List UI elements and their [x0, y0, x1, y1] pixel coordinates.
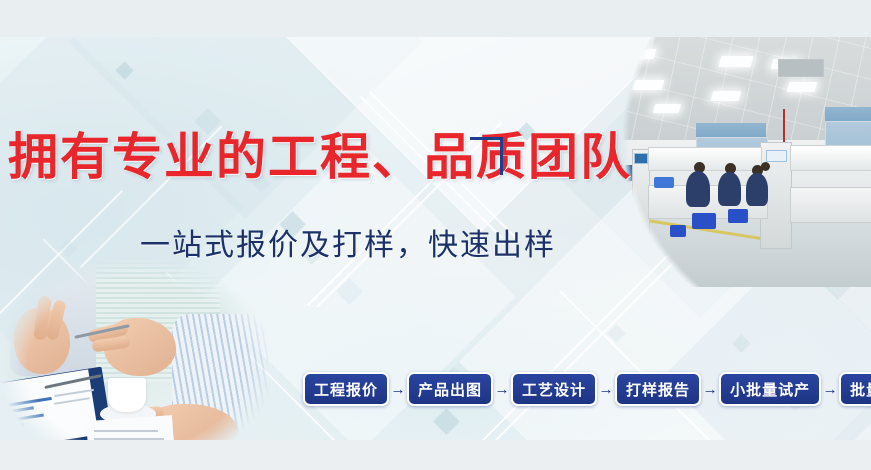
- flow-arrow-icon: →: [701, 381, 719, 398]
- ceiling-light: [653, 104, 682, 113]
- meeting-photo: [0, 252, 292, 440]
- flow-step-1[interactable]: 工程报价: [303, 372, 389, 406]
- ceiling-light: [718, 56, 753, 67]
- overhead-shelf: [790, 145, 871, 171]
- flow-arrow-icon: →: [821, 381, 839, 398]
- process-flow: 工程报价→产品出图→工艺设计→打样报告→小批量试产→批量量产: [303, 372, 871, 406]
- workbench: [790, 187, 871, 223]
- person: [718, 172, 741, 206]
- promo-banner: 拥有专业的工程、品质团队 一站式报价及打样，快速出样 工程报价→产品出图→工艺设…: [0, 37, 871, 440]
- flow-step-2[interactable]: 产品出图: [407, 372, 493, 406]
- bg-diamond: [433, 408, 460, 435]
- flow-arrow-icon: →: [597, 381, 615, 398]
- text-line: [94, 430, 158, 432]
- partition-label: [634, 153, 648, 164]
- ceiling-light: [579, 97, 610, 106]
- ceiling-light: [787, 82, 818, 92]
- ceiling-light: [624, 49, 657, 59]
- corner-bracket-decoration: [470, 137, 503, 175]
- flow-arrow-icon: →: [389, 381, 407, 398]
- banner-headline: 拥有专业的工程、品质团队: [8, 117, 632, 189]
- parts-bin: [654, 177, 674, 188]
- person: [746, 173, 768, 206]
- flow-step-5[interactable]: 小批量试产: [719, 372, 821, 406]
- ceiling-light: [547, 54, 576, 64]
- partition-label: [766, 150, 787, 162]
- flow-step-6[interactable]: 批量量产: [839, 372, 871, 406]
- person-head: [761, 162, 770, 171]
- banner-subheadline: 一站式报价及打样，快速出样: [140, 220, 556, 264]
- flow-step-3[interactable]: 工艺设计: [511, 372, 597, 406]
- ceiling-light: [711, 91, 742, 101]
- ceiling-vent: [778, 59, 824, 77]
- person: [686, 171, 710, 207]
- flow-arrow-icon: →: [493, 381, 511, 398]
- meeting-scene: [0, 252, 292, 440]
- page-strip-bottom: [0, 440, 871, 470]
- ceiling-light: [632, 80, 665, 90]
- banner-screenshot: 拥有专业的工程、品质团队 一站式报价及打样，快速出样 工程报价→产品出图→工艺设…: [0, 0, 871, 470]
- stool: [692, 213, 716, 229]
- flow-step-4[interactable]: 打样报告: [615, 372, 701, 406]
- stool: [670, 225, 686, 237]
- overhead-shelf: [648, 147, 762, 171]
- stool: [728, 209, 748, 223]
- page-strip-top: [0, 0, 871, 37]
- coffee-cup: [108, 378, 146, 412]
